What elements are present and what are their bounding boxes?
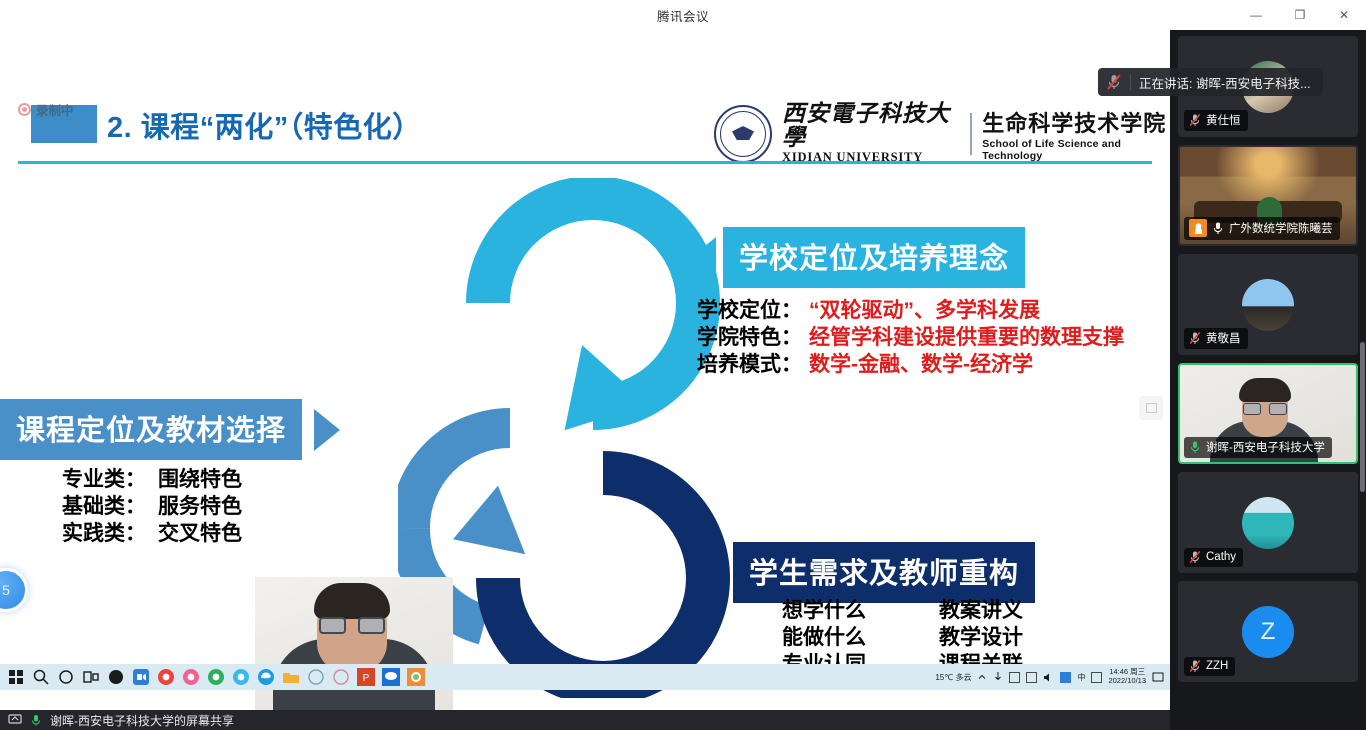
presenter-camera-overlay: [255, 577, 453, 710]
notifications-icon[interactable]: [1152, 671, 1164, 683]
start-icon[interactable]: [6, 667, 26, 687]
app-icon-browser-2[interactable]: [181, 667, 201, 687]
bullet-value: 数学-金融、数学-经济学: [809, 352, 1033, 379]
callout-course-positioning: 课程定位及教材选择: [0, 399, 340, 460]
app-icon-explorer[interactable]: [281, 667, 301, 687]
microphone-icon: [1212, 221, 1224, 235]
bullet-key: 培养模式：: [697, 352, 809, 379]
participant-name: 黄敬昌: [1206, 330, 1241, 346]
bullets-course-positioning: 专业类： 围绕特色 基础类： 服务特色 实践类： 交叉特色: [62, 467, 242, 548]
bullet-value: 服务特色: [158, 494, 242, 521]
callout-label: 课程定位及教材选择: [0, 399, 302, 460]
avatar: [1242, 279, 1294, 331]
bullet-row: 想学什么 教案讲义: [782, 598, 1023, 625]
bullet-col1: 想学什么: [782, 598, 939, 625]
participant-name-badge: 黄敬昌: [1184, 328, 1248, 349]
avatar: [1242, 497, 1294, 549]
system-tray: 15℃ 多云 中 14:46 周三 2022/10/13: [935, 664, 1164, 690]
bullet-key: 基础类：: [62, 494, 158, 521]
university-seal-icon: [714, 105, 772, 163]
screenshot-icon[interactable]: [1009, 672, 1020, 683]
search-icon[interactable]: [31, 667, 51, 687]
app-icon-meeting[interactable]: [131, 667, 151, 687]
participant-name: 黄仕恒: [1206, 112, 1241, 128]
microphone-muted-icon: [1189, 113, 1201, 127]
participant-name: Cathy: [1206, 551, 1236, 563]
microphone-muted-icon: [1189, 331, 1201, 345]
bullet-key: 学院特色：: [697, 325, 809, 352]
microphone-muted-icon: [1106, 73, 1122, 91]
speaking-now-label: 正在讲话: 谢晖-西安电子科技...: [1139, 73, 1311, 92]
bullet-row: 能做什么 教学设计: [782, 625, 1023, 652]
bullet-value: 经管学科建设提供重要的数理支撑: [809, 325, 1124, 352]
recording-label: 录制中: [36, 100, 74, 119]
bullet-row: 培养模式： 数学-金融、数学-经济学: [697, 352, 1124, 379]
recording-indicator: 录制中: [18, 100, 74, 119]
participant-name-badge: 谢晖-西安电子科技大学: [1184, 437, 1332, 458]
clock-date: 2022/10/13: [1108, 676, 1146, 685]
app-icon-orange[interactable]: [406, 667, 426, 687]
app-icon-media[interactable]: [306, 667, 326, 687]
bullets-school-positioning: 学校定位： “双轮驱动”、多学科发展 学院特色： 经管学科建设提供重要的数理支撑…: [697, 298, 1124, 379]
microphone-icon: [29, 713, 43, 727]
callout-student-needs: 学生需求及教师重构: [700, 542, 1035, 603]
network-icon[interactable]: [1026, 672, 1037, 683]
participant-tile-chenxiyun[interactable]: 广外数统学院陈曦芸: [1178, 145, 1358, 246]
system-clock[interactable]: 14:46 周三 2022/10/13: [1108, 668, 1146, 685]
participant-rail[interactable]: 黄仕恒 广外数统学院陈曦芸 黄敬昌: [1170, 30, 1366, 730]
chevron-up-icon[interactable]: [977, 672, 987, 682]
glasses-icon: [319, 617, 385, 634]
speaking-now-toast: 正在讲话: 谢晖-西安电子科技...: [1098, 68, 1323, 96]
bullet-value: “双轮驱动”、多学科发展: [809, 298, 1040, 325]
weather-status[interactable]: 15℃ 多云: [935, 672, 971, 683]
maximize-button[interactable]: ❐: [1278, 0, 1322, 30]
app-icon-chat[interactable]: [381, 667, 401, 687]
participant-tile-xiehui[interactable]: 谢晖-西安电子科技大学: [1178, 363, 1358, 464]
bullet-value: 围绕特色: [158, 467, 242, 494]
onedrive-icon[interactable]: [993, 671, 1003, 683]
shared-screen-area[interactable]: 录制中 2. 课程“两化”（特色化） 西安電子科技大學 XIDIAN UNIVE…: [0, 30, 1170, 730]
callout-label: 学校定位及培养理念: [723, 227, 1025, 288]
participant-name: 广外数统学院陈曦芸: [1229, 220, 1333, 236]
bullet-key: 实践类：: [62, 521, 158, 548]
page-number-badge[interactable]: 5: [0, 568, 28, 612]
svg-text:P: P: [363, 673, 370, 684]
bullet-col2: 教学设计: [939, 625, 1023, 652]
host-icon: [1189, 219, 1207, 237]
rail-scrollbar[interactable]: [1360, 342, 1365, 492]
participant-tile-zzh[interactable]: Z ZZH: [1178, 581, 1358, 682]
screen-share-status-bar: 谢晖-西安电子科技大学的屏幕共享: [0, 710, 1170, 730]
participant-name: ZZH: [1206, 660, 1228, 672]
bullet-row: 学院特色： 经管学科建设提供重要的数理支撑: [697, 325, 1124, 352]
school-name-cn: 生命科学技术学院: [982, 106, 1170, 138]
header-rule: [18, 161, 1152, 164]
cortana-icon[interactable]: [56, 667, 76, 687]
bullet-row: 专业类： 围绕特色: [62, 467, 242, 494]
participant-name-badge: 广外数统学院陈曦芸: [1184, 217, 1340, 240]
callout-school-positioning: 学校定位及培养理念: [690, 227, 1025, 288]
screen-share-icon: [8, 713, 22, 727]
participant-name-badge: Cathy: [1184, 548, 1243, 567]
arrow-right-icon: [314, 409, 340, 451]
avatar: Z: [1242, 606, 1294, 658]
minimize-button[interactable]: —: [1234, 0, 1278, 30]
participant-name: 谢晖-西安电子科技大学: [1206, 439, 1325, 455]
app-icon-browser-4[interactable]: [231, 667, 251, 687]
participant-tile-cathy[interactable]: Cathy: [1178, 472, 1358, 573]
participant-name-badge: 黄仕恒: [1184, 110, 1248, 131]
participant-name-badge: ZZH: [1184, 657, 1235, 676]
glasses-icon: [1243, 403, 1287, 415]
microphone-muted-icon: [1189, 550, 1201, 564]
sync-icon[interactable]: [1060, 672, 1071, 683]
presentation-slide: 录制中 2. 课程“两化”（特色化） 西安電子科技大學 XIDIAN UNIVE…: [0, 30, 1170, 710]
window-title: 腾讯会议: [657, 6, 709, 25]
task-view-icon[interactable]: [81, 667, 101, 687]
app-icon-chrome[interactable]: [156, 667, 176, 687]
microphone-muted-icon: [1189, 659, 1201, 673]
bullet-row: 实践类： 交叉特色: [62, 521, 242, 548]
taskbar-icons: P: [0, 667, 426, 687]
ime-indicator[interactable]: 中: [1077, 672, 1085, 683]
school-name-en: School of Life Science and Technology: [982, 138, 1170, 162]
university-name-cn: 西安電子科技大學: [782, 102, 960, 150]
bullet-row: 基础类： 服务特色: [62, 494, 242, 521]
volume-icon[interactable]: [1043, 672, 1054, 683]
page-title: 2. 课程“两化”（特色化）: [107, 104, 422, 146]
window-controls: — ❐ ✕: [1234, 0, 1366, 30]
app-icon-browser-3[interactable]: [206, 667, 226, 687]
toast-divider: [1130, 74, 1131, 90]
callout-label: 学生需求及教师重构: [733, 542, 1035, 603]
bullet-value: 交叉特色: [158, 521, 242, 548]
slide-header: 录制中 2. 课程“两化”（特色化） 西安電子科技大學 XIDIAN UNIVE…: [0, 30, 1170, 143]
screen-share-label: 谢晖-西安电子科技大学的屏幕共享: [50, 712, 234, 729]
university-logo: 西安電子科技大學 XIDIAN UNIVERSITY 生命科学技术学院 Scho…: [714, 102, 1170, 165]
bullet-key: 专业类：: [62, 467, 158, 494]
bullet-row: 学校定位： “双轮驱动”、多学科发展: [697, 298, 1124, 325]
app-icon-edge[interactable]: [256, 667, 276, 687]
logo-divider: [970, 113, 972, 155]
slide-panel-toggle-icon[interactable]: [1139, 396, 1163, 420]
participant-tile-huangjingchang[interactable]: 黄敬昌: [1178, 254, 1358, 355]
record-dot-icon: [18, 103, 31, 116]
app-icon-wps[interactable]: [106, 667, 126, 687]
app-icon-powerpoint[interactable]: P: [356, 667, 376, 687]
windows-taskbar[interactable]: P 15℃ 多云 中 14:46 周三 2022/10/13: [0, 664, 1170, 690]
presenter-hair: [314, 583, 390, 619]
app-icon-paint[interactable]: [331, 667, 351, 687]
window-titlebar: 腾讯会议 — ❐ ✕: [0, 0, 1366, 30]
arrow-left-icon: [690, 237, 716, 279]
bullet-col1: 能做什么: [782, 625, 939, 652]
ime-panel-icon[interactable]: [1091, 672, 1102, 683]
bullet-col2: 教案讲义: [939, 598, 1023, 625]
close-button[interactable]: ✕: [1322, 0, 1366, 30]
arrow-left-icon: [700, 552, 726, 594]
bullet-key: 学校定位：: [697, 298, 809, 325]
microphone-icon: [1189, 440, 1201, 454]
